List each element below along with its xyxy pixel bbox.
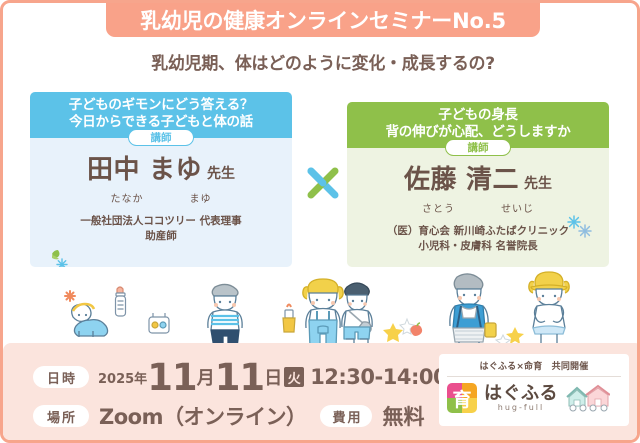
- boy-shoulder-bag-illustration: [342, 283, 372, 348]
- fee-label: 費用: [320, 405, 372, 427]
- event-info: 日時 2025年 11 月 11 日 火 12:30-14:00 場所 Zoom…: [33, 357, 447, 433]
- role-badge-left: 講師: [128, 129, 194, 146]
- speaker-furigana-right: さとうせいじ: [347, 200, 609, 215]
- event-day-unit: 日: [264, 364, 282, 390]
- session-headline-right-line1: 子どもの身長: [351, 107, 605, 124]
- toddler-boy-illustration: [208, 284, 242, 348]
- baby-bottle-icon: [116, 287, 126, 316]
- hugfull-name-ja: はぐふる: [484, 384, 558, 403]
- event-day-number: 11: [215, 359, 265, 396]
- leaf-snowflake-icon: [48, 246, 76, 267]
- place-value: Zoom（オンライン）: [99, 401, 306, 431]
- organizer-logo-row: 育 はぐふる hug-full: [447, 383, 621, 413]
- event-year: 2025年: [98, 368, 147, 387]
- meiiku-house-train-icon: [566, 383, 610, 413]
- role-badge-right: 講師: [445, 139, 511, 156]
- hugfull-wordmark: はぐふる hug-full: [484, 384, 558, 412]
- furigana-given-left: まゆ: [190, 194, 212, 205]
- organizer-title: はぐふる×命育 共同開催: [447, 359, 621, 377]
- speaker-given-name-left: まゆ: [149, 155, 202, 185]
- speaker-family-name-left: 田中: [87, 155, 140, 185]
- place-fee-row: 場所 Zoom（オンライン） 費用 無料: [33, 399, 447, 433]
- affiliation-left-line1: 一般社団法人ココツリー 代表理事: [30, 214, 292, 229]
- speaker-honorific-left: 先生: [207, 166, 235, 182]
- affiliation-left-line2: 助産師: [30, 229, 292, 244]
- girl-yellow-hat-illustration: [529, 272, 569, 348]
- speaker-affiliation-left: 一般社団法人ココツリー 代表理事 助産師: [30, 214, 292, 244]
- event-month-unit: 月: [197, 364, 215, 390]
- star-decor-icon: [65, 291, 75, 301]
- juice-cup-icon: [283, 305, 295, 333]
- girl-overalls-illustration: [303, 279, 343, 348]
- footer-bar: 日時 2025年 11 月 11 日 火 12:30-14:00 場所 Zoom…: [3, 343, 640, 440]
- session-body-right: 佐藤清二先生 さとうせいじ （医）育心会 新川崎ふたばクリニック 小児科・皮膚科…: [347, 156, 609, 254]
- hugfull-logo-mark-icon: 育: [447, 383, 477, 413]
- banner-title: 乳幼児の健康オンラインセミナーNo.5: [140, 5, 506, 35]
- crawling-baby-illustration: [72, 304, 108, 337]
- session-panel-left: 子どものギモンにどう答える？ 今日からできる子どもと体の話 講師 田中まゆ先生 …: [30, 92, 292, 267]
- speaker-furigana-left: たなかまゆ: [30, 190, 292, 205]
- furigana-family-right: さとう: [422, 204, 455, 215]
- furigana-family-left: たなか: [111, 194, 144, 205]
- organizer-logo-card: はぐふる×命育 共同開催 育 はぐふる hug-full: [439, 354, 629, 426]
- hugfull-mark-char: 育: [447, 383, 477, 413]
- furigana-given-right: せいじ: [501, 204, 534, 215]
- session-body-left: 田中まゆ先生 たなかまゆ 一般社団法人ココツリー 代表理事 助産師: [30, 146, 292, 244]
- event-month-number: 11: [147, 359, 197, 396]
- speaker-honorific-right: 先生: [524, 176, 552, 192]
- stars-decor-icon: [383, 319, 414, 342]
- speaker-name-left: 田中まゆ先生: [30, 155, 292, 189]
- affiliation-right-line2: 小児科・皮膚科 名誉院長: [347, 239, 609, 254]
- place-label: 場所: [33, 405, 89, 427]
- snowflake-pair-icon: [565, 214, 595, 240]
- datetime-row: 日時 2025年 11 月 11 日 火 12:30-14:00: [33, 357, 447, 397]
- event-weekday-badge: 火: [284, 367, 304, 387]
- speaker-given-name-right: 清二: [466, 165, 519, 195]
- x-divider-icon: [304, 164, 342, 202]
- session-headline-left-line1: 子どものギモンにどう答える？: [34, 97, 288, 114]
- session-panel-right: 子どもの身長 背の伸びが心配、どうしますか 講師 佐藤清二先生 さとうせいじ （…: [347, 102, 609, 267]
- header-banner: 乳幼児の健康オンラインセミナーNo.5: [106, 3, 540, 37]
- hugfull-name-en: hug-full: [484, 403, 558, 412]
- schoolboy-backpack-illustration: [450, 274, 496, 350]
- fee-value: 無料: [382, 401, 424, 431]
- toy-block-icon: [149, 313, 169, 333]
- speaker-name-right: 佐藤清二先生: [347, 165, 609, 199]
- subtitle: 乳幼児期、体はどのように変化・成長するの?: [3, 49, 640, 74]
- event-time-range: 12:30-14:00: [310, 365, 447, 389]
- speaker-family-name-right: 佐藤: [404, 165, 457, 195]
- datetime-label: 日時: [33, 366, 89, 388]
- seminar-flyer: 乳幼児の健康オンラインセミナーNo.5 乳幼児期、体はどのように変化・成長するの…: [0, 0, 640, 443]
